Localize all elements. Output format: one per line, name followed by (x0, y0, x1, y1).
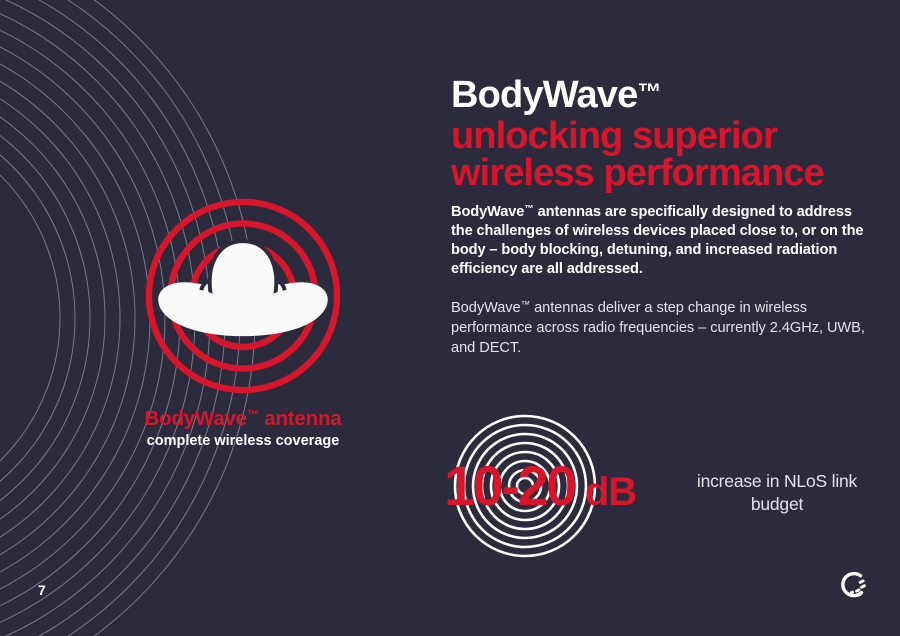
icon-title-main: BodyWave (145, 407, 247, 430)
lead-prefix: BodyWave (451, 204, 524, 220)
stat-block: 10-20 dB increase in NLoS link budget (452, 414, 872, 559)
body-antenna-coverage-icon (145, 198, 341, 394)
trademark-symbol: ™ (521, 299, 530, 310)
trademark-symbol: ™ (637, 79, 660, 106)
page-subtitle-line1: unlocking superior (451, 115, 777, 157)
page-number: 7 (38, 582, 46, 598)
body-paragraph: BodyWave™ antennas deliver a step change… (451, 298, 876, 359)
stat-value: 10-20 dB (444, 458, 636, 514)
page-subtitle: unlocking superior wireless performance (451, 117, 876, 194)
body-prefix: BodyWave (451, 300, 521, 316)
page-title-text: BodyWave (451, 74, 637, 116)
slide-canvas: BodyWave™ antenna complete wireless cove… (0, 0, 900, 636)
icon-title: BodyWave™ antenna (98, 408, 388, 431)
icon-title-rest: antenna (259, 407, 342, 430)
lead-paragraph: BodyWave™ antennas are specifically desi… (451, 203, 876, 280)
page-subtitle-line2: wireless performance (451, 154, 876, 194)
stat-unit: dB (575, 470, 636, 514)
stat-number: 10-20 (444, 454, 575, 517)
trademark-symbol: ™ (247, 407, 259, 421)
trademark-symbol: ™ (524, 203, 533, 214)
page-title: BodyWave™ (451, 76, 876, 115)
bodywave-antenna-figure: BodyWave™ antenna complete wireless cove… (98, 198, 388, 449)
icon-subtitle: complete wireless coverage (98, 433, 388, 450)
company-logo-icon (836, 568, 870, 602)
stat-caption: increase in NLoS link budget (682, 470, 872, 516)
content-column: BodyWave™ unlocking superior wireless pe… (451, 76, 876, 373)
